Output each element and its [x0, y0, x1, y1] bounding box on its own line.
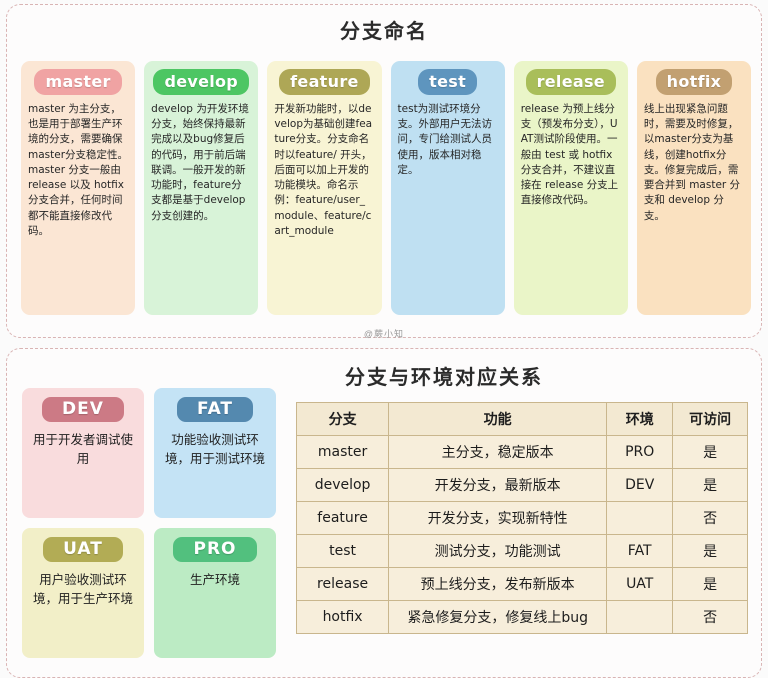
branch-pill-test: test — [418, 69, 477, 95]
branch-naming-title: 分支命名 — [7, 5, 761, 44]
table-cell-branch: test — [297, 535, 389, 568]
branch-card-text-feature: 开发新功能时，以develop为基础创建feature分支。分支命名时以feat… — [274, 102, 374, 239]
env-card-uat: UAT用户验收测试环境，用于生产环境 — [22, 528, 144, 658]
branch-card-test: testtest为测试环境分支。外部用户无法访问，专门给测试人员使用，版本相对稳… — [391, 61, 505, 315]
env-card-desc-pro: 生产环境 — [190, 570, 240, 589]
table-cell-branch: hotfix — [297, 601, 389, 634]
branch-card-text-develop: develop 为开发环境分支，始终保持最新完成以及bug修复后的代码，用于前后… — [151, 102, 251, 224]
branch-pill-master: master — [34, 69, 121, 95]
table-cell-function: 紧急修复分支，修复线上bug — [389, 601, 607, 634]
env-pill-pro: PRO — [173, 537, 256, 562]
branch-card-release: releaserelease 为预上线分支（预发布分支），UAT测试阶段使用。一… — [514, 61, 628, 315]
branch-pill-hotfix: hotfix — [656, 69, 733, 95]
env-card-desc-dev: 用于开发者调试使用 — [30, 430, 136, 469]
table-cell-function: 测试分支，功能测试 — [389, 535, 607, 568]
env-card-pro: PRO生产环境 — [154, 528, 276, 658]
table-header-function: 功能 — [389, 403, 607, 436]
branch-pill-feature: feature — [279, 69, 370, 95]
branch-environment-table-wrap: 分支功能环境可访问 master主分支，稳定版本PRO是develop开发分支，… — [296, 402, 748, 634]
table-header-branch: 分支 — [297, 403, 389, 436]
table-head: 分支功能环境可访问 — [297, 403, 748, 436]
branch-pill-develop: develop — [153, 69, 249, 95]
branch-card-text-release: release 为预上线分支（预发布分支），UAT测试阶段使用。一般由 test… — [521, 102, 621, 209]
environment-card-grid: DEV用于开发者调试使用FAT功能验收测试环境，用于测试环境UAT用户验收测试环… — [22, 388, 278, 658]
branch-naming-panel: 分支命名 mastermaster 为主分支，也是用于部署生产环境的分支，需要确… — [6, 4, 762, 338]
branch-environment-table: 分支功能环境可访问 master主分支，稳定版本PRO是develop开发分支，… — [296, 402, 748, 634]
table-row: develop开发分支，最新版本DEV是 — [297, 469, 748, 502]
table-cell-access: 是 — [673, 535, 748, 568]
branch-card-feature: feature开发新功能时，以develop为基础创建feature分支。分支命… — [267, 61, 381, 315]
table-cell-branch: master — [297, 436, 389, 469]
env-pill-uat: UAT — [43, 537, 123, 562]
table-cell-function: 开发分支，最新版本 — [389, 469, 607, 502]
table-cell-env — [607, 502, 673, 535]
table-cell-access: 是 — [673, 568, 748, 601]
table-header-access: 可访问 — [673, 403, 748, 436]
branch-card-text-master: master 为主分支，也是用于部署生产环境的分支，需要确保master分支稳定… — [28, 102, 128, 239]
table-cell-branch: feature — [297, 502, 389, 535]
branch-card-text-test: test为测试环境分支。外部用户无法访问，专门给测试人员使用，版本相对稳定。 — [398, 102, 498, 178]
table-cell-env — [607, 601, 673, 634]
table-header-env: 环境 — [607, 403, 673, 436]
table-body: master主分支，稳定版本PRO是develop开发分支，最新版本DEV是fe… — [297, 436, 748, 634]
table-header-row: 分支功能环境可访问 — [297, 403, 748, 436]
table-cell-function: 预上线分支，发布新版本 — [389, 568, 607, 601]
table-row: feature开发分支，实现新特性否 — [297, 502, 748, 535]
branch-env-title: 分支与环境对应关系 — [127, 349, 761, 390]
table-cell-env: UAT — [607, 568, 673, 601]
table-cell-branch: develop — [297, 469, 389, 502]
table-cell-access: 否 — [673, 502, 748, 535]
env-card-fat: FAT功能验收测试环境，用于测试环境 — [154, 388, 276, 518]
watermark: @蕨小知 — [7, 327, 761, 340]
table-row: test测试分支，功能测试FAT是 — [297, 535, 748, 568]
branch-card-text-hotfix: 线上出现紧急问题时，需要及时修复，以master分支为基线，创建hotfix分支… — [644, 102, 744, 224]
table-row: master主分支，稳定版本PRO是 — [297, 436, 748, 469]
table-cell-access: 是 — [673, 469, 748, 502]
env-card-dev: DEV用于开发者调试使用 — [22, 388, 144, 518]
branch-pill-release: release — [526, 69, 616, 95]
table-cell-function: 开发分支，实现新特性 — [389, 502, 607, 535]
table-row: release预上线分支，发布新版本UAT是 — [297, 568, 748, 601]
table-cell-function: 主分支，稳定版本 — [389, 436, 607, 469]
env-pill-fat: FAT — [177, 397, 253, 422]
table-cell-access: 否 — [673, 601, 748, 634]
branch-card-develop: developdevelop 为开发环境分支，始终保持最新完成以及bug修复后的… — [144, 61, 258, 315]
table-row: hotfix紧急修复分支，修复线上bug否 — [297, 601, 748, 634]
env-card-desc-uat: 用户验收测试环境，用于生产环境 — [30, 570, 136, 609]
table-cell-access: 是 — [673, 436, 748, 469]
branch-card-master: mastermaster 为主分支，也是用于部署生产环境的分支，需要确保mast… — [21, 61, 135, 315]
table-cell-branch: release — [297, 568, 389, 601]
table-cell-env: PRO — [607, 436, 673, 469]
branch-card-hotfix: hotfix线上出现紧急问题时，需要及时修复，以master分支为基线，创建ho… — [637, 61, 751, 315]
table-cell-env: DEV — [607, 469, 673, 502]
branch-cards-row: mastermaster 为主分支，也是用于部署生产环境的分支，需要确保mast… — [21, 61, 751, 315]
env-pill-dev: DEV — [42, 397, 124, 422]
env-card-desc-fat: 功能验收测试环境，用于测试环境 — [162, 430, 268, 469]
table-cell-env: FAT — [607, 535, 673, 568]
infographic-page: 分支命名 mastermaster 为主分支，也是用于部署生产环境的分支，需要确… — [0, 0, 768, 668]
